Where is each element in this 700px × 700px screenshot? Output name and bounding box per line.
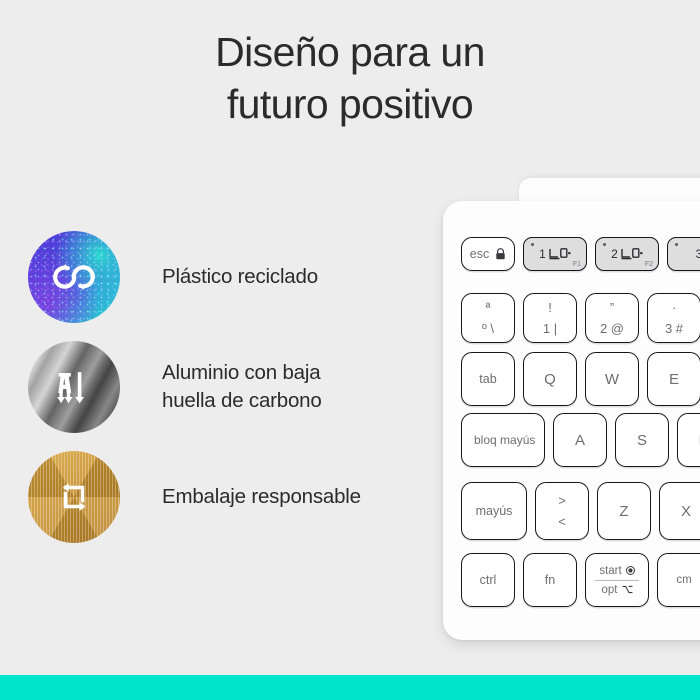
key-mayus-label: mayús bbox=[476, 504, 513, 518]
wireless-keyboard: esc 1 bbox=[443, 178, 700, 640]
key-fn[interactable]: fn bbox=[523, 553, 577, 607]
feature-label-plastico-reciclado: Plástico reciclado bbox=[162, 263, 318, 291]
page-title: Diseño para un futuro positivo bbox=[0, 26, 700, 131]
key-less-greater-bottom: < bbox=[558, 514, 566, 529]
key-1[interactable]: ! 1 | bbox=[523, 293, 577, 343]
key-s-label: S bbox=[637, 432, 647, 449]
feature-list: Plástico reciclado bbox=[28, 222, 428, 552]
key-2[interactable]: ” 2 @ bbox=[585, 293, 639, 343]
key-f2-fn-label: F2 bbox=[645, 261, 653, 268]
keyboard-row-qwerty: tab Q W E bbox=[461, 352, 700, 406]
keyboard-row-numbers: ª º \ ! 1 | ” 2 @ bbox=[461, 293, 700, 343]
feature-label-aluminio-baja-huella: Aluminio con baja huella de carbono bbox=[162, 359, 322, 416]
key-start-opt-divider bbox=[595, 580, 638, 581]
key-bloq-mayus-label: bloq mayús bbox=[462, 433, 544, 447]
bottom-accent-bar bbox=[0, 675, 700, 700]
key-d[interactable]: D bbox=[677, 413, 700, 467]
key-s[interactable]: S bbox=[615, 413, 669, 467]
box-loop-arrows-icon bbox=[51, 474, 97, 520]
key-less-greater-top: > bbox=[558, 493, 566, 508]
key-w[interactable]: W bbox=[585, 352, 639, 406]
key-1-top: ! bbox=[548, 300, 552, 315]
key-f3-number: 3 bbox=[696, 247, 700, 261]
key-mayus[interactable]: mayús bbox=[461, 482, 527, 540]
key-a[interactable]: A bbox=[553, 413, 607, 467]
key-2-top: ” bbox=[610, 300, 614, 315]
option-icon bbox=[622, 585, 633, 594]
key-f3-status-dot bbox=[675, 243, 678, 246]
key-e-label: E bbox=[669, 371, 679, 388]
key-e[interactable]: E bbox=[647, 352, 700, 406]
key-f2-number: 2 bbox=[611, 247, 618, 261]
page-title-line-1: Diseño para un bbox=[0, 26, 700, 78]
keyboard-row-shift: mayús > < Z X bbox=[461, 482, 700, 540]
key-start-opt[interactable]: start opt bbox=[585, 553, 649, 607]
key-fn-label: fn bbox=[545, 573, 555, 587]
key-1-bottom: 1 | bbox=[543, 321, 557, 336]
key-x-label: X bbox=[681, 503, 691, 520]
feature-item-aluminio-baja-huella: Aluminio con baja huella de carbono bbox=[28, 332, 428, 442]
feature-item-embalaje-responsable: Embalaje responsable bbox=[28, 442, 428, 552]
key-f1-fn-label: F1 bbox=[573, 261, 581, 268]
feature-item-plastico-reciclado: Plástico reciclado bbox=[28, 222, 428, 332]
key-ordinal-bottom: º \ bbox=[482, 321, 494, 336]
key-a-label: A bbox=[575, 432, 585, 449]
badge-plastico-reciclado bbox=[28, 231, 120, 323]
keyboard-row-home: bloq mayús A S D bbox=[461, 413, 700, 467]
key-ordinal-top: ª bbox=[486, 300, 491, 315]
windows-start-icon bbox=[626, 566, 635, 575]
key-w-label: W bbox=[605, 371, 619, 388]
key-less-greater[interactable]: > < bbox=[535, 482, 589, 540]
key-cmd[interactable]: cm bbox=[657, 553, 700, 607]
key-q-label: Q bbox=[544, 371, 556, 388]
key-2-bottom: 2 @ bbox=[600, 321, 624, 336]
badge-embalaje-responsable bbox=[28, 451, 120, 543]
device-switch-icon bbox=[621, 248, 643, 261]
key-z[interactable]: Z bbox=[597, 482, 651, 540]
key-opt-label: opt bbox=[602, 584, 618, 596]
key-esc-label: esc bbox=[470, 247, 489, 261]
device-switch-icon bbox=[549, 248, 571, 261]
key-f1[interactable]: 1 F1 bbox=[523, 237, 587, 271]
key-tab-label: tab bbox=[479, 372, 496, 386]
key-3[interactable]: · 3 # bbox=[647, 293, 700, 343]
key-3-bottom: 3 # bbox=[665, 321, 683, 336]
key-esc[interactable]: esc bbox=[461, 237, 515, 271]
feature-label-embalaje-responsable: Embalaje responsable bbox=[162, 483, 361, 511]
keyboard-row-modifiers: ctrl fn start bbox=[461, 553, 700, 607]
page-title-line-2: futuro positivo bbox=[0, 78, 700, 130]
key-x[interactable]: X bbox=[659, 482, 700, 540]
key-f1-number: 1 bbox=[539, 247, 546, 261]
key-3-top: · bbox=[672, 300, 676, 315]
key-ctrl-label: ctrl bbox=[480, 573, 497, 587]
key-ctrl[interactable]: ctrl bbox=[461, 553, 515, 607]
badge-aluminio-baja-huella bbox=[28, 341, 120, 433]
aluminium-al-down-arrows-icon bbox=[48, 361, 100, 413]
key-f3[interactable]: 3 F3 bbox=[667, 237, 700, 271]
page-canvas: Diseño para un futuro positivo Plástico … bbox=[0, 0, 700, 700]
key-f2-status-dot bbox=[603, 243, 606, 246]
key-ordinal[interactable]: ª º \ bbox=[461, 293, 515, 343]
key-f2[interactable]: 2 F2 bbox=[595, 237, 659, 271]
keyboard-key-rows: esc 1 bbox=[443, 201, 700, 640]
key-q[interactable]: Q bbox=[523, 352, 577, 406]
lock-icon bbox=[495, 248, 506, 260]
key-start-label: start bbox=[599, 565, 621, 577]
key-cmd-label: cm bbox=[676, 574, 691, 586]
keyboard-row-function: esc 1 bbox=[461, 237, 700, 271]
key-tab[interactable]: tab bbox=[461, 352, 515, 406]
recycling-loop-icon bbox=[52, 255, 96, 299]
key-z-label: Z bbox=[619, 503, 628, 520]
key-f1-status-dot bbox=[531, 243, 534, 246]
key-bloq-mayus[interactable]: bloq mayús bbox=[461, 413, 545, 467]
